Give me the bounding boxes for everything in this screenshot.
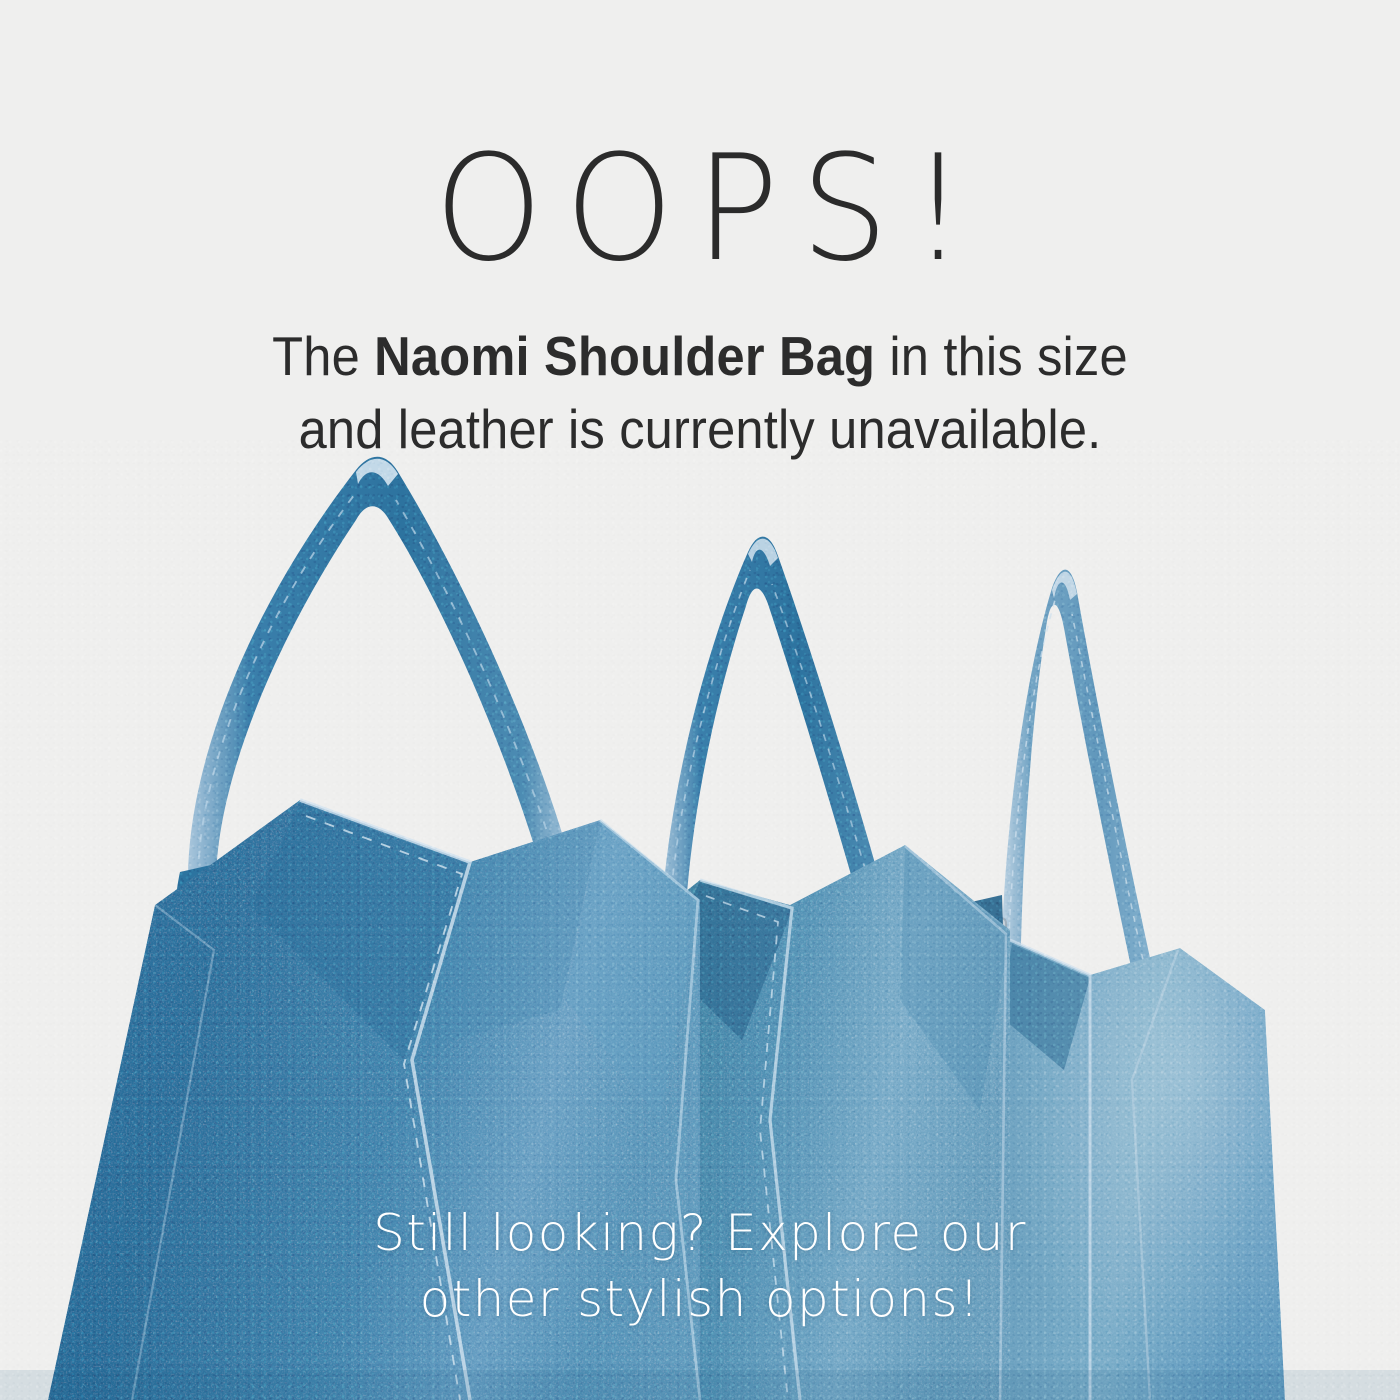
cta-line-2: other stylish options! [420, 1270, 981, 1328]
cta-text: Still looking? Explore our other stylish… [0, 1200, 1400, 1332]
error-page-canvas: OOPS! The Naomi Shoulder Bag in this siz… [0, 0, 1400, 1400]
message-tail-line1: in this size [875, 325, 1128, 387]
cta-line-1: Still looking? Explore our [373, 1204, 1027, 1262]
product-name: Naomi Shoulder Bag [374, 325, 875, 387]
message-lead: The [272, 325, 374, 387]
page-title: OOPS! [0, 136, 1400, 282]
message-tail-line2: and leather is currently unavailable. [299, 398, 1102, 460]
unavailable-message: The Naomi Shoulder Bag in this size and … [56, 320, 1344, 465]
